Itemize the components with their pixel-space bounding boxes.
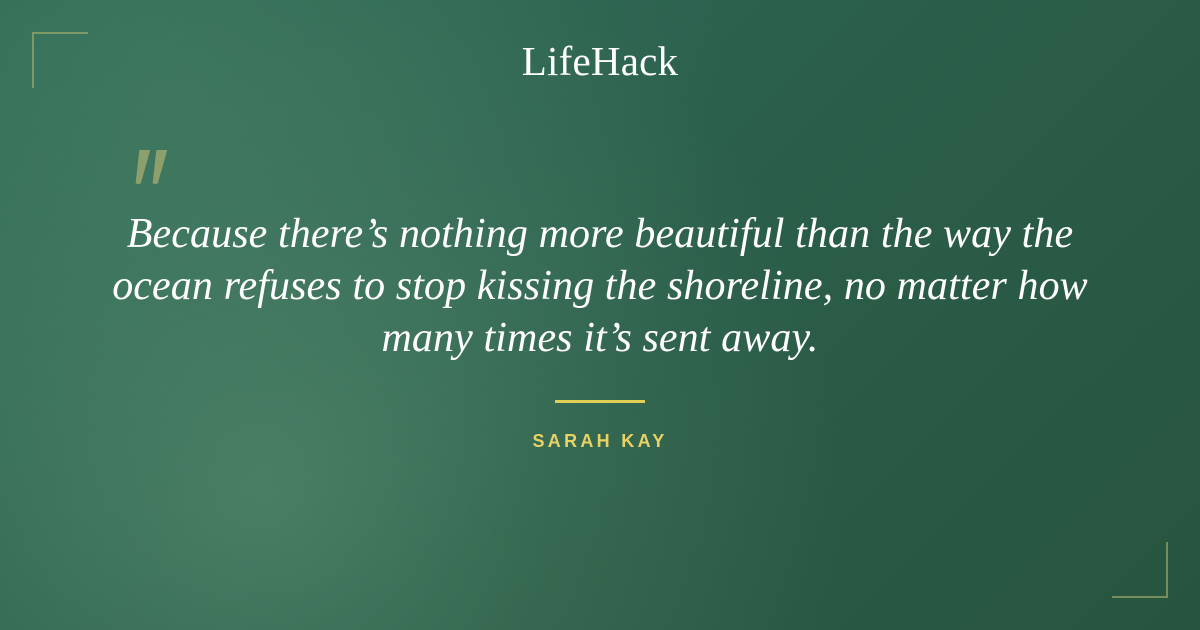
corner-bracket-bottom-right-icon	[1112, 542, 1168, 598]
divider	[555, 400, 645, 403]
brand-logo: LifeHack	[0, 40, 1200, 83]
quote-line: many times it’s sent away.	[110, 312, 1090, 364]
quote-block: Because there’s nothing more beautiful t…	[110, 208, 1090, 364]
quote-line: ocean refuses to stop kissing the shorel…	[110, 260, 1090, 312]
double-quote-mark-icon	[133, 148, 173, 190]
quote-line: Because there’s nothing more beautiful t…	[110, 208, 1090, 260]
attribution-block: SARAH KAY	[0, 400, 1200, 452]
quote-card: LifeHack Because there’s nothing more be…	[0, 0, 1200, 630]
quote-author: SARAH KAY	[0, 431, 1200, 452]
